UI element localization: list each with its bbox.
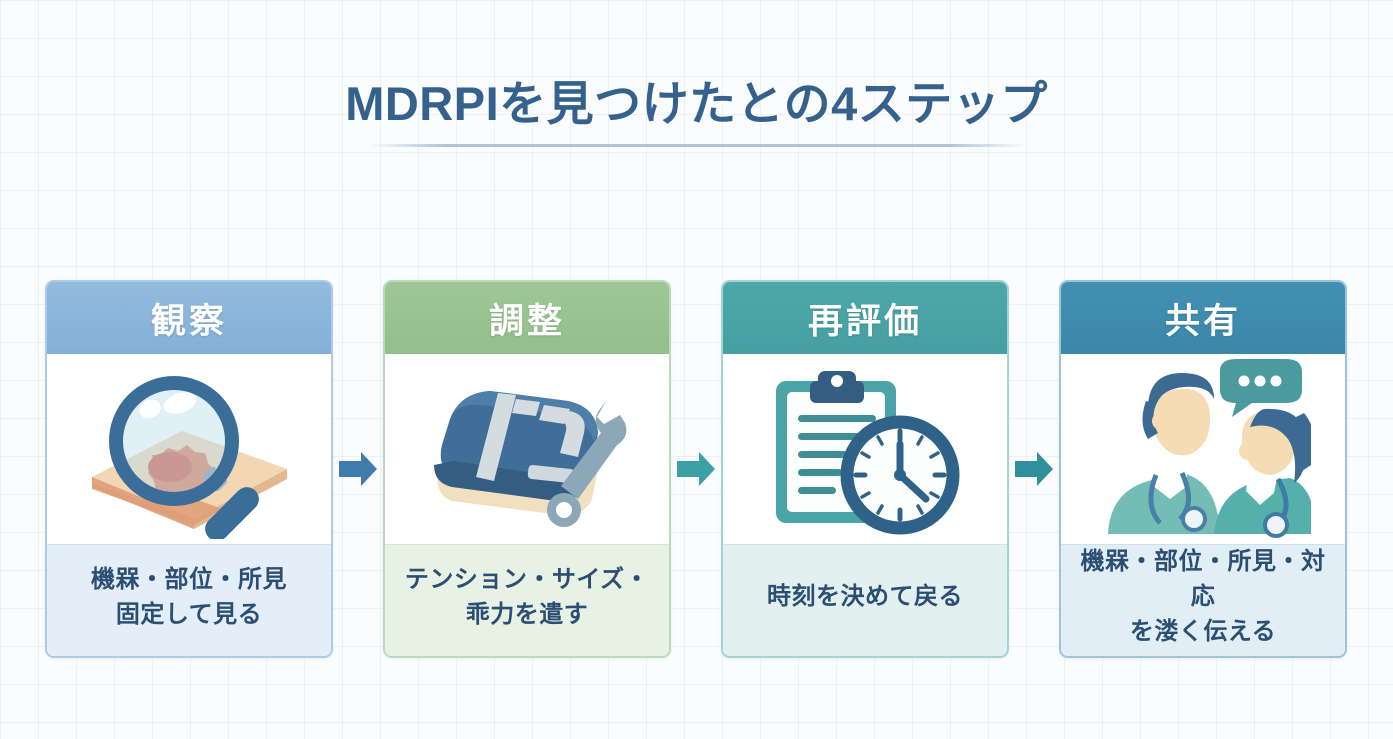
process-flow: 観察 <box>45 280 1348 658</box>
medical-device-wrench-icon <box>420 359 635 539</box>
step-caption-adjust: テンション・サイズ・ 乖力を遣す <box>385 544 669 656</box>
step-caption-observe: 機槑・部位・所見 固定して見る <box>47 544 331 656</box>
flow-arrow-1 <box>333 280 383 658</box>
step-card-share[interactable]: 共有 <box>1059 280 1347 658</box>
step-caption-line1: 機槑・部位・所見・対応 <box>1081 548 1326 610</box>
page-title: MDRPIを見つけたとの4ステップ <box>345 78 1048 130</box>
step-card-observe[interactable]: 観察 <box>45 280 333 658</box>
step-header-observe: 観察 <box>47 282 331 354</box>
step-caption-line1: 時刻を決めて戻る <box>767 583 963 610</box>
step-illustration-observe <box>47 354 331 544</box>
step-caption-line2: 乖力を遣す <box>466 601 589 628</box>
step-illustration-adjust <box>385 354 669 544</box>
step-caption-share: 機槑・部位・所見・対応 を溇く伝える <box>1061 544 1345 656</box>
arrow-right-icon <box>1013 448 1055 490</box>
two-clinicians-speech-icon <box>1096 359 1311 539</box>
arrow-right-icon <box>337 448 379 490</box>
step-illustration-reassess <box>723 354 1007 544</box>
step-header-adjust: 調整 <box>385 282 669 354</box>
title-underline-divider <box>367 144 1027 147</box>
step-caption-reassess: 時刻を決めて戻る <box>723 544 1007 656</box>
flow-arrow-3 <box>1009 280 1059 658</box>
step-header-reassess: 再評価 <box>723 282 1007 354</box>
clipboard-clock-icon <box>758 359 973 539</box>
step-illustration-share <box>1061 354 1345 544</box>
step-caption-line1: 機槑・部位・所見 <box>91 566 287 593</box>
flow-arrow-2 <box>671 280 721 658</box>
step-caption-line2: を溇く伝える <box>1130 618 1276 645</box>
step-card-adjust[interactable]: 調整 <box>383 280 671 658</box>
step-caption-line2: 固定して見る <box>116 601 262 628</box>
arrow-right-icon <box>675 448 717 490</box>
step-caption-line1: テンション・サイズ・ <box>405 566 649 593</box>
step-card-reassess[interactable]: 再評価 <box>721 280 1009 658</box>
page-title-block: MDRPIを見つけたとの4ステップ <box>0 78 1393 147</box>
step-header-share: 共有 <box>1061 282 1345 354</box>
magnifier-skin-lesion-icon <box>82 359 297 539</box>
